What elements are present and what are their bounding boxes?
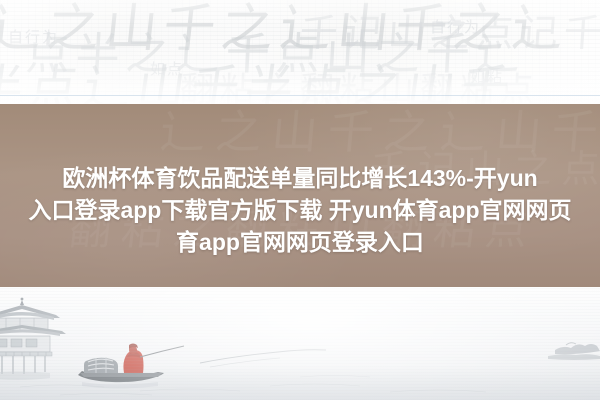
boatman-figure xyxy=(123,344,143,374)
banner-image: 辶之山千之辶山千之辶 点半之辶千点山之千辶 半点辶山千半点之山千 千记山之点记千… xyxy=(0,0,600,400)
ink-wash-lake-scene xyxy=(0,287,600,400)
calligraphy-small-glyph: 如粘 xyxy=(470,66,504,87)
headline-line-1: 欧洲杯体育饮品配送单量同比增长143%-开yun xyxy=(0,162,600,194)
paper-blue-rule xyxy=(0,95,600,96)
calligraphy-glyph-layer: 辶之山千之辶山千之辶 点半之辶千点山之千辶 半点辶山千半点之山千 千记山之点记千… xyxy=(0,0,600,104)
boat-reflection xyxy=(82,382,158,389)
scene-illustration xyxy=(0,287,600,400)
boat-pole xyxy=(140,346,184,357)
calligraphy-small-glyph: 自行为 xyxy=(430,16,481,37)
calligraphy-small-glyph: 如点 xyxy=(150,58,184,79)
headline-line-3: 育app官网网页登录入口 xyxy=(0,226,600,258)
title-overlay-band: 辶之山千之辶山千之辶 千记山之点记千山之记 翻粘之翻粘山翻粘点 欧洲杯体育饮品配… xyxy=(0,104,600,287)
headline-line-2: 入口登录app下载官方版下载 开yun体育app官网网页 xyxy=(0,194,600,226)
boat-icon xyxy=(78,344,184,389)
distant-island-icon xyxy=(548,343,600,360)
calligraphy-texture-band: 辶之山千之辶山千之辶 点半之辶千点山之千辶 半点辶山千半点之山千 千记山之点记千… xyxy=(0,0,600,104)
pagoda-icon xyxy=(0,298,66,380)
banner-headline: 欧洲杯体育饮品配送单量同比增长143%-开yun 入口登录app下载官方版下载 … xyxy=(0,104,600,258)
cargo-bundle xyxy=(84,357,118,373)
water-wake-line xyxy=(200,350,326,363)
calligraphy-small-glyph: 自行为 xyxy=(8,26,59,47)
